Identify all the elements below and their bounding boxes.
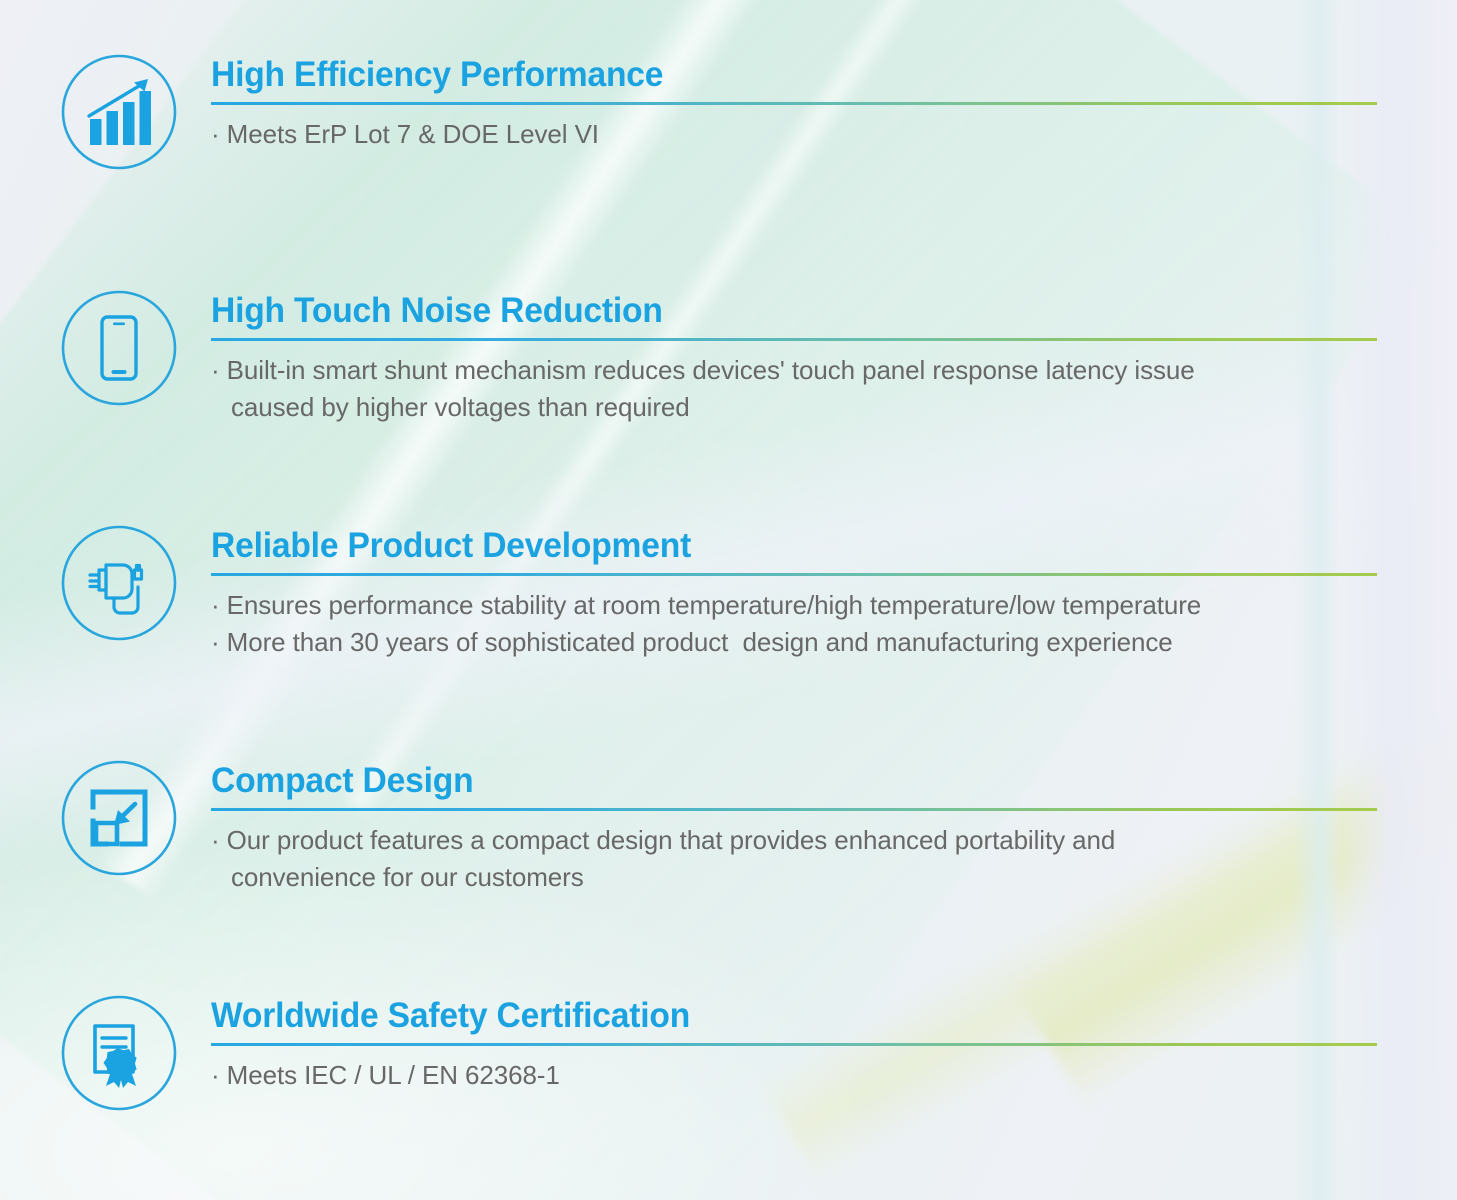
- feature-divider: [211, 573, 1377, 576]
- background-band-lime-secondary: [760, 644, 1457, 1185]
- smartphone-icon: [60, 289, 178, 407]
- feature-description: · Ensures performance stability at room …: [211, 587, 1377, 661]
- feature-text-block: High Efficiency Performance · Meets ErP …: [211, 53, 1377, 153]
- feature-text-block: High Touch Noise Reduction · Built-in sm…: [211, 289, 1377, 426]
- feature-description: · Our product features a compact design …: [211, 822, 1377, 896]
- feature-title: Compact Design: [211, 759, 1330, 803]
- compact-resize-icon: [60, 759, 178, 877]
- feature-description-line: caused by higher voltages than required: [211, 389, 1377, 426]
- feature-description-line: · Meets ErP Lot 7 & DOE Level VI: [211, 116, 1377, 153]
- feature-divider: [211, 102, 1377, 105]
- feature-divider: [211, 338, 1377, 341]
- feature-description: · Meets IEC / UL / EN 62368-1: [211, 1057, 1377, 1094]
- feature-title: Worldwide Safety Certification: [211, 994, 1330, 1038]
- background-wash-mid-left: [0, 380, 640, 1080]
- feature-text-block: Worldwide Safety Certification · Meets I…: [211, 994, 1377, 1094]
- feature-title: High Efficiency Performance: [211, 53, 1330, 97]
- feature-description-line: · Built-in smart shunt mechanism reduces…: [211, 352, 1377, 389]
- feature-title: Reliable Product Development: [211, 524, 1330, 568]
- feature-title: High Touch Noise Reduction: [211, 289, 1330, 333]
- feature-description-line: · Ensures performance stability at room …: [211, 587, 1377, 624]
- feature-description: · Built-in smart shunt mechanism reduces…: [211, 352, 1377, 426]
- feature-text-block: Compact Design · Our product features a …: [211, 759, 1377, 896]
- certificate-seal-icon: [60, 994, 178, 1112]
- feature-description-line: · More than 30 years of sophisticated pr…: [211, 624, 1377, 661]
- feature-divider: [211, 808, 1377, 811]
- feature-divider: [211, 1043, 1377, 1046]
- feature-description: · Meets ErP Lot 7 & DOE Level VI: [211, 116, 1377, 153]
- feature-text-block: Reliable Product Development · Ensures p…: [211, 524, 1377, 661]
- bar-chart-growth-icon: [60, 53, 178, 171]
- power-adapter-icon: [60, 524, 178, 642]
- feature-description-line: · Our product features a compact design …: [211, 822, 1377, 859]
- feature-description-line: · Meets IEC / UL / EN 62368-1: [211, 1057, 1377, 1094]
- feature-highlights-panel: High Efficiency Performance · Meets ErP …: [0, 0, 1457, 1200]
- feature-description-line: convenience for our customers: [211, 859, 1377, 896]
